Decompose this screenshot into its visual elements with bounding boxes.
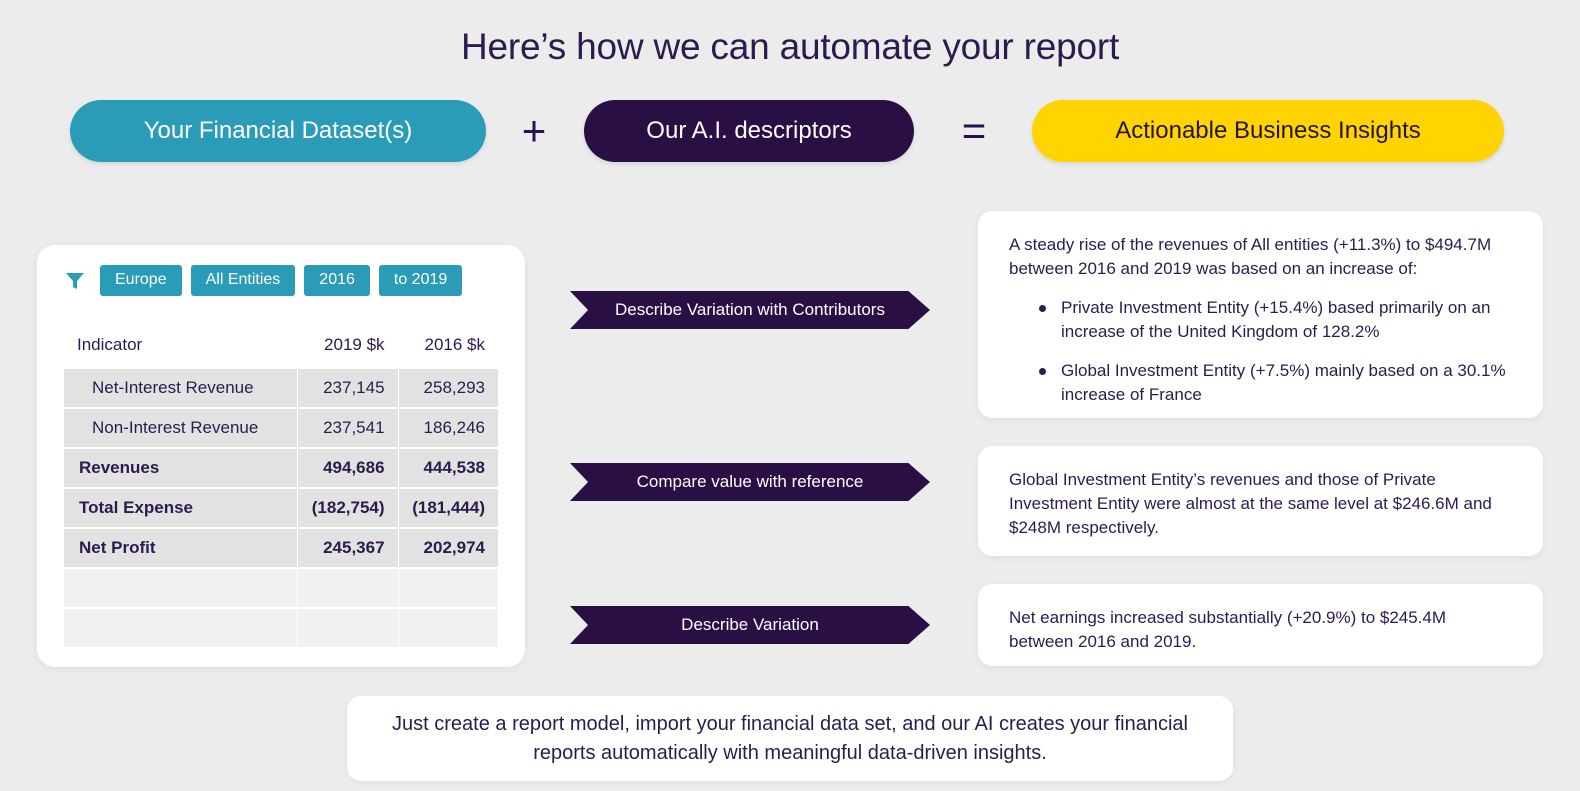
row-indicator <box>64 569 297 607</box>
filter-bar: Europe All Entities 2016 to 2019 <box>63 265 462 296</box>
insight-intro-text: Global Investment Entity’s revenues and … <box>1009 468 1513 540</box>
chevron-label: Describe Variation <box>681 615 819 635</box>
filter-chip-region[interactable]: Europe <box>100 265 182 296</box>
row-indicator <box>64 609 297 647</box>
financial-table-card: Europe All Entities 2016 to 2019 Indicat… <box>37 245 525 667</box>
table-row-empty[interactable] <box>64 569 498 607</box>
plus-operator-icon: + <box>504 100 564 162</box>
row-value-2019: 245,367 <box>298 529 397 567</box>
pill-descriptors-label: Our A.I. descriptors <box>646 117 851 145</box>
financial-table: Indicator 2019 $k 2016 $k Net-Interest R… <box>63 327 499 649</box>
row-value-2016: (181,444) <box>399 489 498 527</box>
descriptor-chevron-describe-variation-with-contributors[interactable]: Describe Variation with Contributors <box>570 291 930 329</box>
row-value-2019: 494,686 <box>298 449 397 487</box>
funnel-icon <box>63 269 87 293</box>
pill-ai-descriptors[interactable]: Our A.I. descriptors <box>584 100 914 162</box>
table-header-row: Indicator 2019 $k 2016 $k <box>64 329 498 367</box>
row-value-2016 <box>399 609 498 647</box>
formula-row: Your Financial Dataset(s) + Our A.I. des… <box>70 100 1510 162</box>
list-item: Global Investment Entity (+7.5%) mainly … <box>1031 359 1513 407</box>
pill-financial-dataset[interactable]: Your Financial Dataset(s) <box>70 100 486 162</box>
descriptor-chevron-describe-variation[interactable]: Describe Variation <box>570 606 930 644</box>
row-value-2019: 237,541 <box>298 409 397 447</box>
row-value-2016: 202,974 <box>399 529 498 567</box>
caption-text: Just create a report model, import your … <box>391 710 1189 768</box>
row-indicator: Non-Interest Revenue <box>64 409 297 447</box>
row-value-2016: 258,293 <box>399 369 498 407</box>
row-value-2016: 186,246 <box>399 409 498 447</box>
row-value-2016 <box>399 569 498 607</box>
row-indicator: Net Profit <box>64 529 297 567</box>
row-value-2019: (182,754) <box>298 489 397 527</box>
insight-card-comparison: Global Investment Entity’s revenues and … <box>978 446 1543 556</box>
table-header-2016: 2016 $k <box>399 329 498 367</box>
equals-operator-icon: = <box>944 100 1004 162</box>
filter-chip-year-from[interactable]: 2016 <box>304 265 370 296</box>
table-row-empty[interactable] <box>64 609 498 647</box>
chevron-label: Describe Variation with Contributors <box>615 300 885 320</box>
page-title: Here’s how we can automate your report <box>0 26 1580 68</box>
insight-card-net-earnings: Net earnings increased substantially (+2… <box>978 584 1543 666</box>
pill-actionable-insights[interactable]: Actionable Business Insights <box>1032 100 1504 162</box>
insight-bullet-list: Private Investment Entity (+15.4%) based… <box>1009 296 1513 407</box>
table-row[interactable]: Non-Interest Revenue 237,541 186,246 <box>64 409 498 447</box>
table-row[interactable]: Revenues 494,686 444,538 <box>64 449 498 487</box>
filter-chip-year-to[interactable]: to 2019 <box>379 265 462 296</box>
list-item: Private Investment Entity (+15.4%) based… <box>1031 296 1513 344</box>
row-value-2019 <box>298 569 397 607</box>
row-value-2019 <box>298 609 397 647</box>
row-indicator: Revenues <box>64 449 297 487</box>
pill-dataset-label: Your Financial Dataset(s) <box>144 117 413 145</box>
descriptor-chevron-compare-value-with-reference[interactable]: Compare value with reference <box>570 463 930 501</box>
insight-intro-text: A steady rise of the revenues of All ent… <box>1009 233 1513 281</box>
row-value-2016: 444,538 <box>399 449 498 487</box>
row-indicator: Total Expense <box>64 489 297 527</box>
table-row[interactable]: Net-Interest Revenue 237,145 258,293 <box>64 369 498 407</box>
insight-card-revenues: A steady rise of the revenues of All ent… <box>978 211 1543 418</box>
row-value-2019: 237,145 <box>298 369 397 407</box>
pill-insights-label: Actionable Business Insights <box>1115 117 1421 145</box>
row-indicator: Net-Interest Revenue <box>64 369 297 407</box>
table-header-indicator: Indicator <box>64 329 297 367</box>
chevron-label: Compare value with reference <box>637 472 864 492</box>
table-row[interactable]: Total Expense (182,754) (181,444) <box>64 489 498 527</box>
table-row[interactable]: Net Profit 245,367 202,974 <box>64 529 498 567</box>
insight-intro-text: Net earnings increased substantially (+2… <box>1009 606 1513 654</box>
caption-card: Just create a report model, import your … <box>347 696 1233 781</box>
filter-chip-entities[interactable]: All Entities <box>191 265 296 296</box>
table-header-2019: 2019 $k <box>298 329 397 367</box>
